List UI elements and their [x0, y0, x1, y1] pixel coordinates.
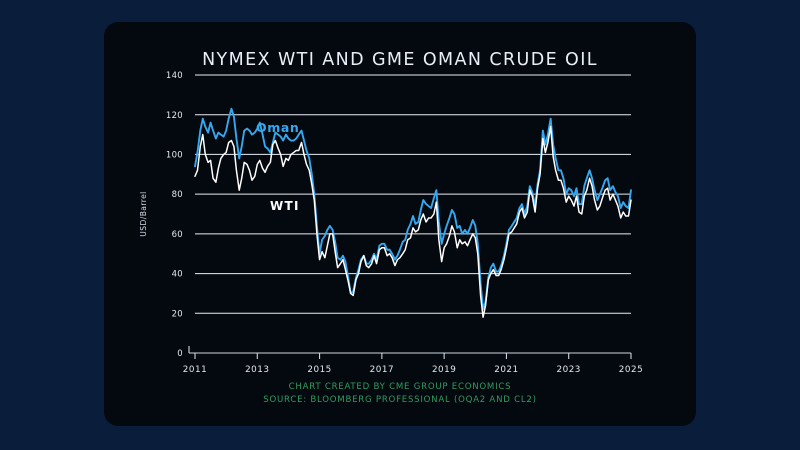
y-tick-label-20: 20 [172, 309, 183, 319]
x-tick-label-2017: 2017 [370, 365, 394, 375]
y-tick-label-140: 140 [166, 71, 183, 81]
y-tick-label-80: 80 [172, 190, 183, 200]
x-tick-label-2015: 2015 [307, 365, 331, 375]
footer-source: SOURCE: BLOOMBERG PROFESSIONAL (OQA2 AND… [104, 394, 696, 406]
footer-credit: CHART CREATED BY CME GROUP ECONOMICS [104, 381, 696, 393]
x-tick-label-2021: 2021 [494, 365, 518, 375]
y-tick-label-0: 0 [177, 349, 183, 359]
y-tick-label-60: 60 [172, 230, 183, 240]
chart-svg: 0204060801001201402011201320152017201920… [104, 22, 696, 426]
x-tick-label-2023: 2023 [557, 365, 581, 375]
series-label-wti: WTI [270, 199, 300, 213]
series-line-wti [195, 127, 631, 318]
y-tick-label-40: 40 [172, 270, 183, 280]
y-tick-label-120: 120 [166, 111, 183, 121]
chart-footer: CHART CREATED BY CME GROUP ECONOMICS SOU… [104, 381, 696, 406]
x-tick-label-2013: 2013 [245, 365, 269, 375]
series-line-oman [195, 109, 631, 310]
series-label-oman: Oman [256, 120, 299, 135]
plot-area: 0204060801001201402011201320152017201920… [104, 22, 696, 426]
y-axis-title: USD/Barrel [139, 191, 148, 236]
x-tick-label-2025: 2025 [619, 365, 643, 375]
y-tick-label-100: 100 [166, 151, 183, 161]
x-tick-label-2011: 2011 [183, 365, 207, 375]
chart-panel: NYMEX WTI AND GME OMAN CRUDE OIL 0204060… [104, 22, 696, 426]
screenshot-root: NYMEX WTI AND GME OMAN CRUDE OIL 0204060… [0, 0, 800, 450]
x-tick-label-2019: 2019 [432, 365, 456, 375]
